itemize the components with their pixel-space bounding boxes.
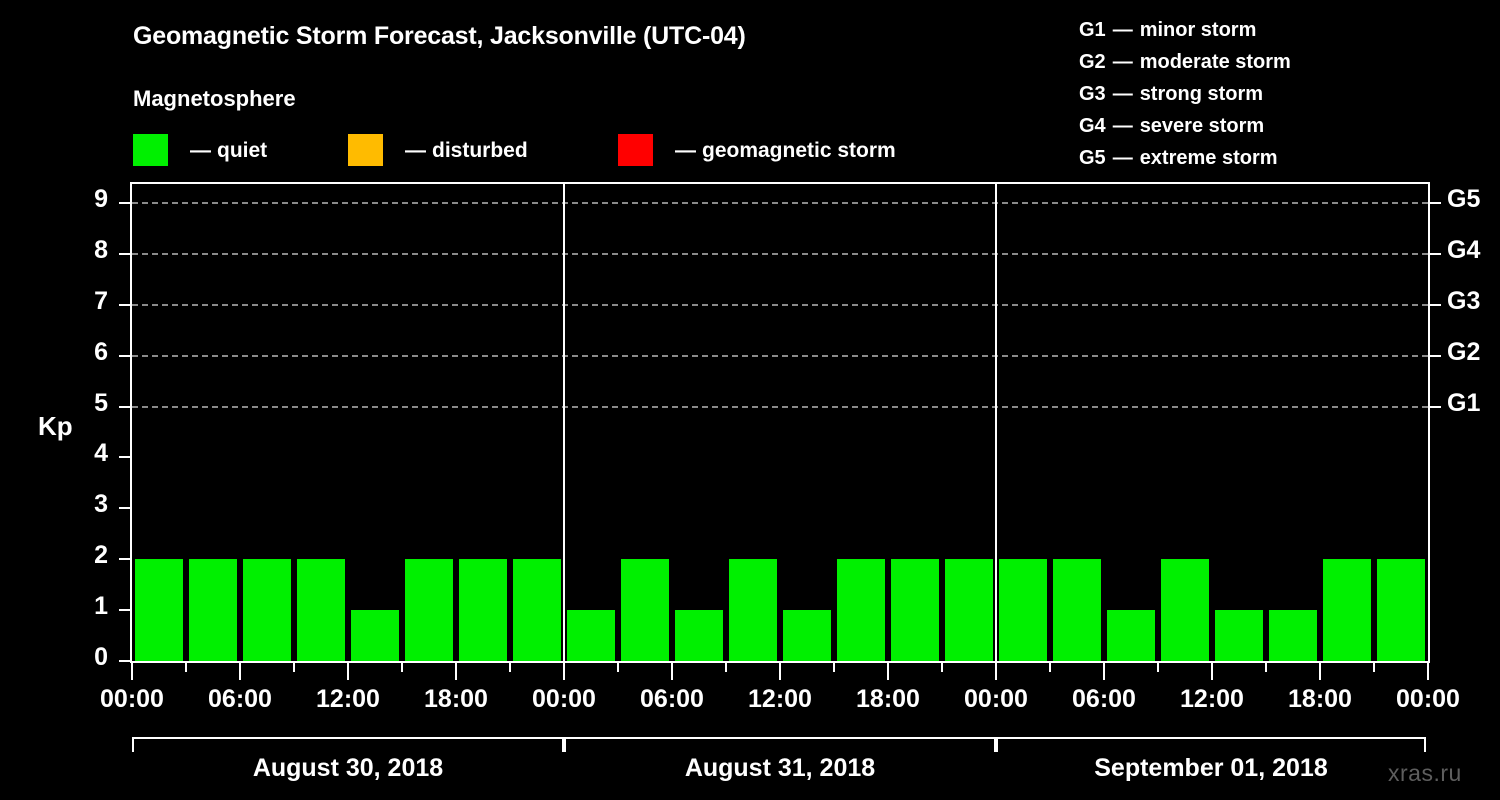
y-axis-tick-7 [119, 304, 130, 306]
x-axis-tick-major [1211, 663, 1213, 680]
legend-dash: — [675, 140, 696, 161]
g-scale-row-g3: G3—strong storm [1079, 78, 1291, 110]
x-axis-label: 00:00 [504, 687, 624, 712]
day-separator-1 [563, 184, 565, 661]
legend-item-quiet: —quiet [133, 133, 267, 167]
day-label: August 31, 2018 [564, 754, 996, 783]
chart-canvas: Geomagnetic Storm Forecast, Jacksonville… [0, 0, 1500, 800]
bar [729, 559, 777, 661]
x-axis-tick-major [1427, 663, 1429, 680]
gridline-kp-8 [132, 253, 1428, 255]
x-axis-label: 18:00 [828, 687, 948, 712]
x-axis-tick-major [347, 663, 349, 680]
x-axis-tick-major [563, 663, 565, 680]
y-axis-label-9: 9 [68, 187, 108, 212]
g-axis-tick-g1 [1430, 406, 1441, 408]
y-axis-label-7: 7 [68, 289, 108, 314]
x-axis-tick-major [455, 663, 457, 680]
y-axis-tick-2 [119, 558, 130, 560]
g-scale-code: G5 [1079, 148, 1106, 168]
g-scale-dash: — [1113, 84, 1133, 104]
g-scale-code: G1 [1079, 20, 1106, 40]
g-scale-row-g1: G1—minor storm [1079, 14, 1291, 46]
x-axis-tick-major [671, 663, 673, 680]
y-axis-label-8: 8 [68, 238, 108, 263]
bar [351, 610, 399, 661]
bar [945, 559, 993, 661]
bar [891, 559, 939, 661]
day-separator-2 [995, 184, 997, 661]
x-axis-label: 12:00 [720, 687, 840, 712]
g-scale-dash: — [1113, 148, 1133, 168]
y-axis-tick-0 [119, 660, 130, 662]
g-scale-row-g4: G4—severe storm [1079, 110, 1291, 142]
day-bracket [996, 737, 1426, 739]
day-bracket-tick [996, 737, 998, 752]
g-scale-description: strong storm [1140, 84, 1263, 104]
x-axis-tick-minor [401, 663, 403, 672]
x-axis-label: 06:00 [1044, 687, 1164, 712]
legend-label: disturbed [432, 140, 528, 161]
x-axis-label: 06:00 [612, 687, 732, 712]
bar [1215, 610, 1263, 661]
g-scale-description: moderate storm [1140, 52, 1291, 72]
x-axis-tick-major [995, 663, 997, 680]
bar [567, 610, 615, 661]
watermark: xras.ru [1388, 760, 1462, 787]
x-axis-label: 00:00 [72, 687, 192, 712]
legend-item-geomagnetic-storm: —geomagnetic storm [618, 133, 896, 167]
g-scale-code: G4 [1079, 116, 1106, 136]
x-axis-tick-minor [509, 663, 511, 672]
y-axis-tick-3 [119, 507, 130, 509]
y-axis-label-3: 3 [68, 492, 108, 517]
bar [1269, 610, 1317, 661]
bar [783, 610, 831, 661]
g-axis-tick-g4 [1430, 253, 1441, 255]
legend-label: geomagnetic storm [702, 140, 896, 161]
g-axis-tick-g5 [1430, 202, 1441, 204]
g-scale-description: extreme storm [1140, 148, 1278, 168]
bar [999, 559, 1047, 661]
g-scale-row-g2: G2—moderate storm [1079, 46, 1291, 78]
g-scale-dash: — [1113, 116, 1133, 136]
y-axis-tick-5 [119, 406, 130, 408]
gridline-kp-7 [132, 304, 1428, 306]
g-axis-label-g1: G1 [1447, 391, 1500, 416]
x-axis-tick-major [1319, 663, 1321, 680]
y-axis-tick-8 [119, 253, 130, 255]
bar [243, 559, 291, 661]
legend-dash: — [190, 140, 211, 161]
day-label: September 01, 2018 [996, 754, 1426, 783]
bar [135, 559, 183, 661]
x-axis-tick-minor [725, 663, 727, 672]
g-scale-description: minor storm [1140, 20, 1257, 40]
bar [1107, 610, 1155, 661]
bar [1161, 559, 1209, 661]
y-axis-tick-6 [119, 355, 130, 357]
x-axis-label: 00:00 [1368, 687, 1488, 712]
g-axis-label-g5: G5 [1447, 187, 1500, 212]
x-axis-tick-minor [1265, 663, 1267, 672]
g-scale-dash: — [1113, 20, 1133, 40]
bar [1053, 559, 1101, 661]
bar [675, 610, 723, 661]
gridline-kp-5 [132, 406, 1428, 408]
y-axis-label-4: 4 [68, 441, 108, 466]
x-axis-label: 06:00 [180, 687, 300, 712]
storm-swatch [618, 134, 653, 166]
x-axis-label: 00:00 [936, 687, 1056, 712]
day-bracket-tick [1424, 737, 1426, 752]
x-axis-tick-major [239, 663, 241, 680]
legend-item-disturbed: —disturbed [348, 133, 528, 167]
x-axis-tick-minor [1373, 663, 1375, 672]
y-axis-tick-4 [119, 456, 130, 458]
plot-area [130, 182, 1430, 663]
bar [459, 559, 507, 661]
page-title: Geomagnetic Storm Forecast, Jacksonville… [133, 22, 746, 51]
x-axis-tick-major [1103, 663, 1105, 680]
x-axis-tick-minor [185, 663, 187, 672]
x-axis-tick-major [131, 663, 133, 680]
gridline-kp-9 [132, 202, 1428, 204]
disturbed-swatch [348, 134, 383, 166]
day-label: August 30, 2018 [132, 754, 564, 783]
g-axis-tick-g2 [1430, 355, 1441, 357]
g-axis-tick-g3 [1430, 304, 1441, 306]
quiet-swatch [133, 134, 168, 166]
g-axis-label-g4: G4 [1447, 238, 1500, 263]
bar [189, 559, 237, 661]
legend-dash: — [405, 140, 426, 161]
x-axis-tick-minor [1157, 663, 1159, 672]
x-axis-tick-minor [941, 663, 943, 672]
g-scale-code: G2 [1079, 52, 1106, 72]
x-axis-tick-minor [833, 663, 835, 672]
day-bracket [132, 737, 564, 739]
g-scale-row-g5: G5—extreme storm [1079, 142, 1291, 174]
plot-inner [132, 184, 1428, 661]
g-scale-code: G3 [1079, 84, 1106, 104]
g-scale-legend: G1—minor stormG2—moderate stormG3—strong… [1079, 14, 1291, 174]
bar [297, 559, 345, 661]
x-axis-tick-major [887, 663, 889, 680]
y-axis-title: Kp [38, 411, 73, 442]
bar [1377, 559, 1425, 661]
g-axis-label-g2: G2 [1447, 340, 1500, 365]
g-scale-dash: — [1113, 52, 1133, 72]
g-axis-label-g3: G3 [1447, 289, 1500, 314]
gridline-kp-6 [132, 355, 1428, 357]
y-axis-label-5: 5 [68, 391, 108, 416]
x-axis-tick-minor [617, 663, 619, 672]
legend-label: quiet [217, 140, 267, 161]
g-scale-description: severe storm [1140, 116, 1265, 136]
y-axis-label-6: 6 [68, 340, 108, 365]
x-axis-tick-minor [293, 663, 295, 672]
x-axis-tick-minor [1049, 663, 1051, 672]
bar [513, 559, 561, 661]
day-bracket [564, 737, 996, 739]
bar [837, 559, 885, 661]
magnetosphere-section-label: Magnetosphere [133, 86, 296, 112]
x-axis-label: 18:00 [396, 687, 516, 712]
day-bracket-tick [132, 737, 134, 752]
bar [1323, 559, 1371, 661]
y-axis-label-0: 0 [68, 645, 108, 670]
bar [405, 559, 453, 661]
y-axis-label-2: 2 [68, 543, 108, 568]
y-axis-tick-1 [119, 609, 130, 611]
x-axis-tick-major [779, 663, 781, 680]
day-bracket-tick [564, 737, 566, 752]
y-axis-label-1: 1 [68, 594, 108, 619]
bar [621, 559, 669, 661]
x-axis-label: 12:00 [288, 687, 408, 712]
x-axis-label: 12:00 [1152, 687, 1272, 712]
x-axis-label: 18:00 [1260, 687, 1380, 712]
y-axis-tick-9 [119, 202, 130, 204]
